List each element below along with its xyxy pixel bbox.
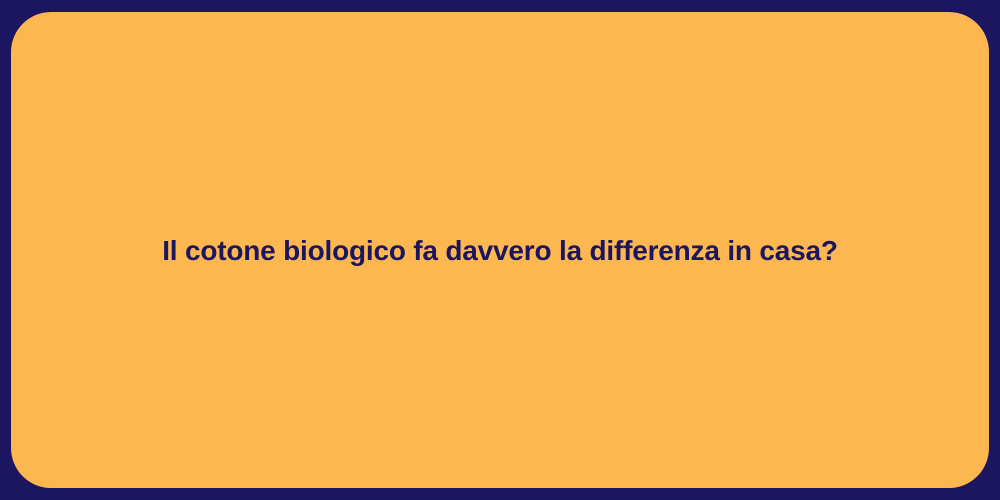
page-background: Il cotone biologico fa davvero la differ…: [0, 0, 1000, 500]
page-title: Il cotone biologico fa davvero la differ…: [122, 233, 878, 268]
content-card: Il cotone biologico fa davvero la differ…: [11, 12, 989, 488]
